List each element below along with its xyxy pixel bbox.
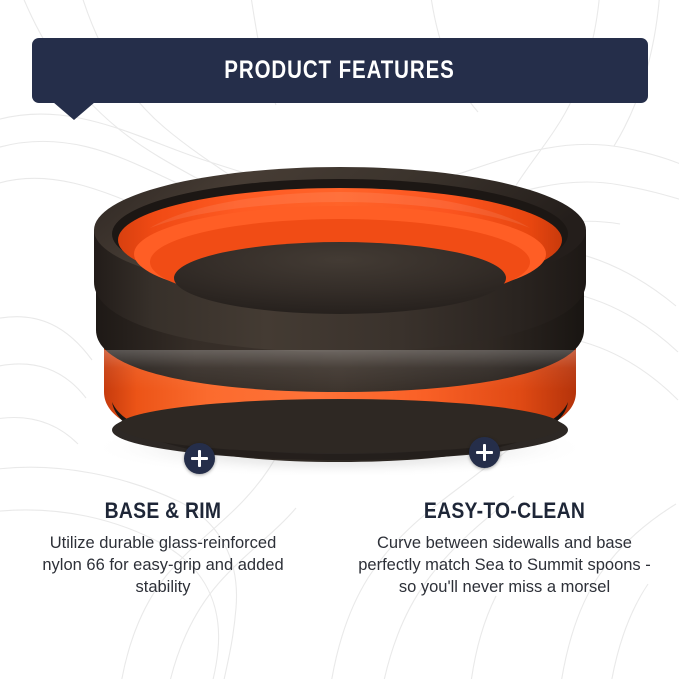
feature-body-base-rim: Utilize durable glass-reinforced nylon 6… (42, 533, 284, 599)
hotspot-base-rim[interactable] (184, 443, 215, 474)
product-image-collapsible-bowl: SEA TO SUMMIT (0, 130, 679, 475)
hotspot-easy-clean[interactable] (469, 437, 500, 468)
banner-body: PRODUCT FEATURES (32, 38, 648, 103)
feature-base-rim: BASE & RIM Utilize durable glass-reinfor… (0, 498, 340, 599)
feature-easy-to-clean: EASY-TO-CLEAN Curve between sidewalls an… (340, 498, 679, 599)
bowl-interior-cavity (174, 242, 506, 314)
product-features-banner: PRODUCT FEATURES (32, 38, 648, 103)
banner-title: PRODUCT FEATURES (225, 56, 455, 85)
feature-body-easy-to-clean: Curve between sidewalls and base perfect… (354, 533, 655, 599)
feature-title-easy-to-clean: EASY-TO-CLEAN (372, 498, 637, 524)
banner-pointer-triangle (53, 102, 95, 120)
feature-title-base-rim: BASE & RIM (57, 498, 270, 524)
body-sheen (99, 345, 581, 391)
feature-list: BASE & RIM Utilize durable glass-reinfor… (0, 498, 679, 599)
